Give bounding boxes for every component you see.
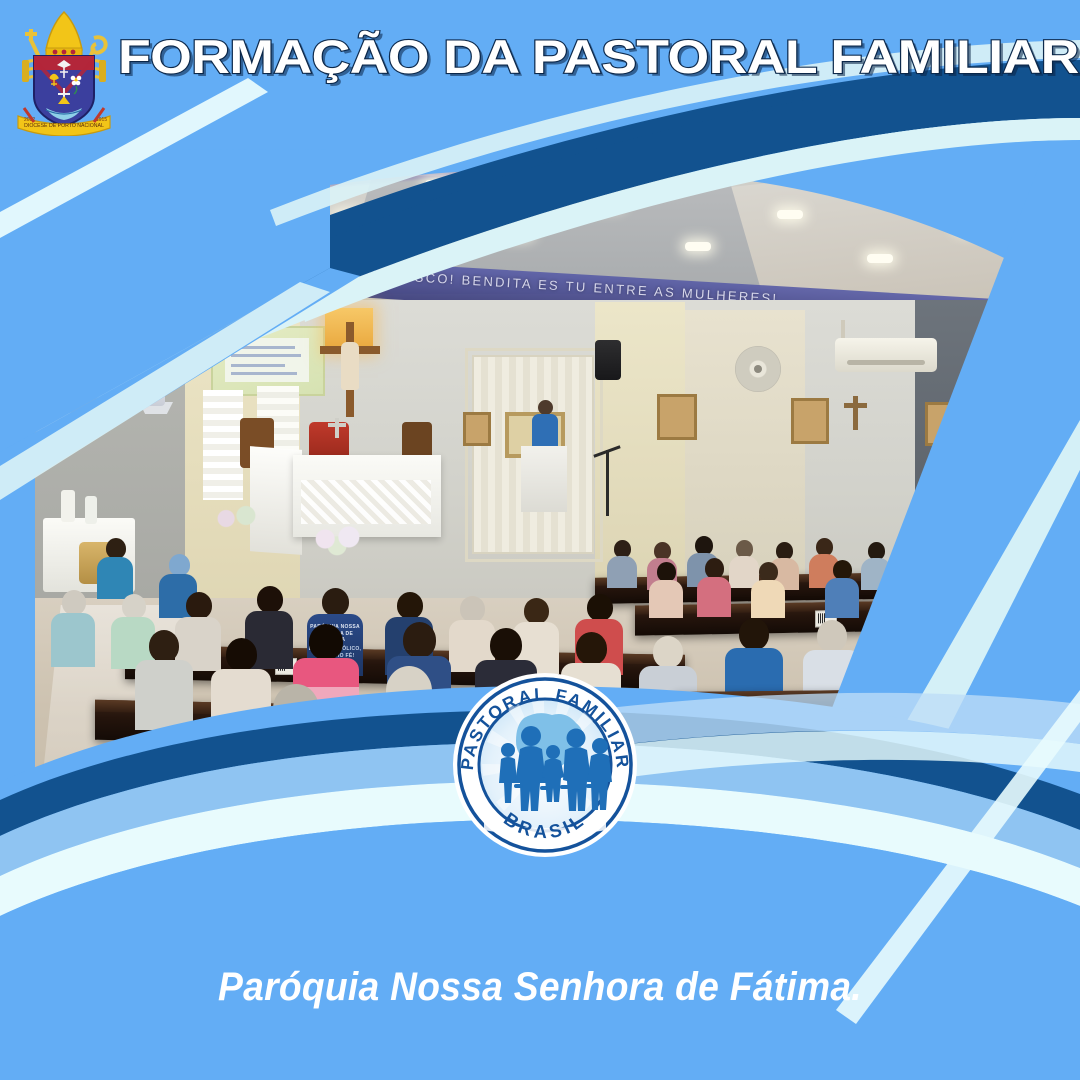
speaker-person: [532, 400, 558, 452]
notice-paper: [35, 366, 71, 432]
congregant: [1001, 560, 1037, 614]
congregant: [649, 562, 683, 614]
air-conditioner-vent: [847, 360, 925, 365]
crucifix-corpus: [341, 342, 359, 390]
loudspeaker: [595, 340, 621, 380]
congregant: [51, 590, 95, 664]
parish-name: Paróquia Nossa Senhora de Fátima.: [38, 965, 1042, 1010]
congregant: [891, 558, 927, 614]
projector-screen-inner: [225, 338, 309, 382]
ceiling-light: [595, 198, 621, 207]
poster-canvas: AVE CHEIA DE GRAÇA, O SENHOR E CONVOSCO!…: [0, 0, 1080, 1080]
altar-lace-cloth: [301, 480, 431, 524]
water-bottle: [61, 490, 75, 522]
congregant: [97, 538, 133, 596]
ac-pipe: [841, 320, 845, 340]
podium: [521, 446, 567, 512]
wall-cross: [1035, 400, 1040, 434]
flower-arrangement: [203, 502, 269, 532]
fatima-statue: [147, 368, 165, 406]
diocese-coat-of-arms: DIOCESE DE PORTO NACIONAL 2012 1915: [8, 4, 120, 136]
congregant: [607, 540, 637, 584]
microphone-stand: [606, 450, 609, 516]
wall-picture: [657, 394, 697, 440]
ceiling-light: [153, 202, 179, 211]
air-conditioner: [835, 338, 937, 372]
water-bottle: [85, 496, 97, 524]
header: DIOCESE DE PORTO NACIONAL 2012 1915 FORM…: [0, 0, 1080, 150]
ceiling-light: [867, 254, 893, 263]
ceiling-light: [241, 186, 267, 195]
page-title: FORMAÇÃO DA PASTORAL FAMILIAR DIOCESANA: [118, 30, 1080, 84]
ceiling-light: [685, 242, 711, 251]
ceiling-light: [425, 180, 451, 189]
altar-banner: [203, 390, 243, 500]
ceiling-light: [505, 228, 531, 237]
wall-picture: [925, 402, 965, 446]
congregant: [861, 542, 891, 586]
congregant: [825, 560, 859, 614]
ceiling-light: [957, 222, 983, 231]
congregant: [947, 562, 981, 614]
altar-cross: [335, 418, 339, 438]
ceiling-fan: [735, 346, 781, 392]
pastoral-familiar-brasil-logo: PASTORAL FAMILIAR BRASIL: [452, 672, 638, 858]
congregant: [697, 558, 731, 614]
congregant: [751, 562, 785, 614]
wall-cross: [853, 396, 858, 430]
ceiling-light: [777, 210, 803, 219]
congregant: [135, 630, 193, 726]
coa-banner-text: DIOCESE DE PORTO NACIONAL: [24, 123, 104, 129]
wall-picture: [463, 412, 491, 446]
flower-arrangement: [303, 522, 377, 556]
wall-picture: [791, 398, 829, 444]
ceiling-light: [335, 212, 361, 221]
